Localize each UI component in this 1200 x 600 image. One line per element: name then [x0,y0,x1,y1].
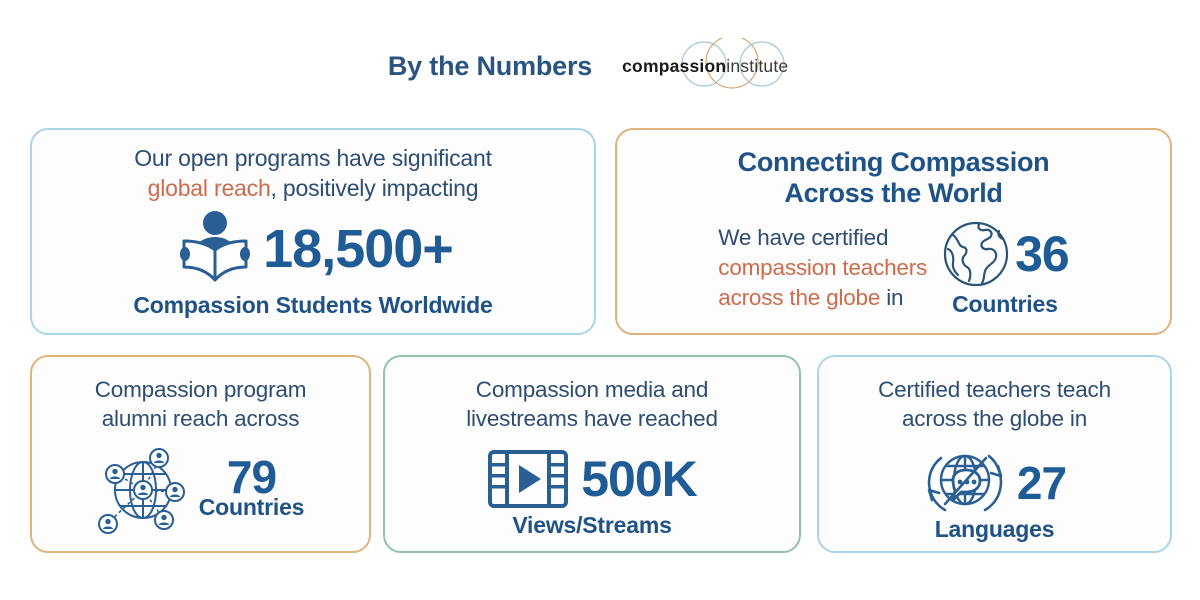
card-students-accent: global reach [148,175,271,201]
card-media-caption: Views/Streams [512,512,671,539]
card-world-headline-line1: Connecting Compassion [738,147,1050,177]
card-world-accent-line1: compassion teachers [718,255,927,280]
card-media-lead: Compassion media and livestreams have re… [466,375,718,434]
card-world-text: We have certified compassion teachers ac… [718,223,927,313]
globe-network-people-icon [97,442,189,534]
card-world-body: We have certified compassion teachers ac… [617,219,1170,318]
header: By the Numbers compassioninstitute [0,38,1200,94]
logo-wordmark: compassioninstitute [622,56,788,77]
card-media-views: Compassion media and livestreams have re… [383,355,801,553]
card-world-caption: Countries [952,291,1058,318]
card-world-headline: Connecting Compassion Across the World [738,147,1050,209]
globe-icon [941,219,1011,289]
card-world-headline-line2: Across the World [784,178,1002,208]
card-compassion-students: Our open programs have significant globa… [30,128,596,335]
card-media-lead-line2: livestreams have reached [466,406,718,431]
person-reading-book-icon [173,210,257,288]
card-alumni-stat: 79 Countries [97,442,305,534]
card-media-lead-line1: Compassion media and [476,377,708,402]
card-students-caption: Compassion Students Worldwide [133,292,492,319]
card-students-number: 18,500+ [263,222,453,276]
globe-translate-speech-icon [923,444,1009,522]
card-alumni-countries: Compassion program alumni reach across [30,355,371,553]
card-students-lead-line1: Our open programs have significant [134,145,492,171]
card-world-accent-line2: across the globe [718,285,880,310]
card-alumni-lead-line2: alumni reach across [102,406,300,431]
card-world-lead-line1: We have certified [718,225,888,250]
card-connecting-world: Connecting Compassion Across the World W… [615,128,1172,335]
card-lang-caption: Languages [935,516,1055,543]
logo-wordmark-light: institute [726,56,788,76]
card-alumni-lead: Compassion program alumni reach across [95,375,307,434]
card-world-stat: 36 Countries [941,219,1069,318]
card-students-stat: 18,500+ [173,210,453,288]
page-title: By the Numbers [388,51,592,82]
compassion-institute-logo: compassioninstitute [622,38,812,94]
card-lang-lead-line2: across the globe in [902,406,1087,431]
card-media-number: 500K [581,454,697,504]
card-students-lead-line2: , positively impacting [271,175,479,201]
card-media-stat: 500K [487,448,697,510]
card-lang-number: 27 [1017,460,1066,506]
infographic-page: By the Numbers compassioninstitute Our o… [0,0,1200,600]
logo-wordmark-bold: compassion [622,56,726,76]
card-lang-lead: Certified teachers teach across the glob… [878,375,1111,434]
card-alumni-caption: Countries [199,494,305,521]
card-world-number: 36 [1015,229,1069,279]
card-lang-stat: 27 [923,444,1066,522]
card-alumni-lead-line1: Compassion program [95,377,307,402]
film-strip-play-icon [487,448,569,510]
card-students-lead: Our open programs have significant globa… [134,144,492,204]
card-languages: Certified teachers teach across the glob… [817,355,1172,553]
card-world-lead-line2: in [886,285,903,310]
card-lang-lead-line1: Certified teachers teach [878,377,1111,402]
